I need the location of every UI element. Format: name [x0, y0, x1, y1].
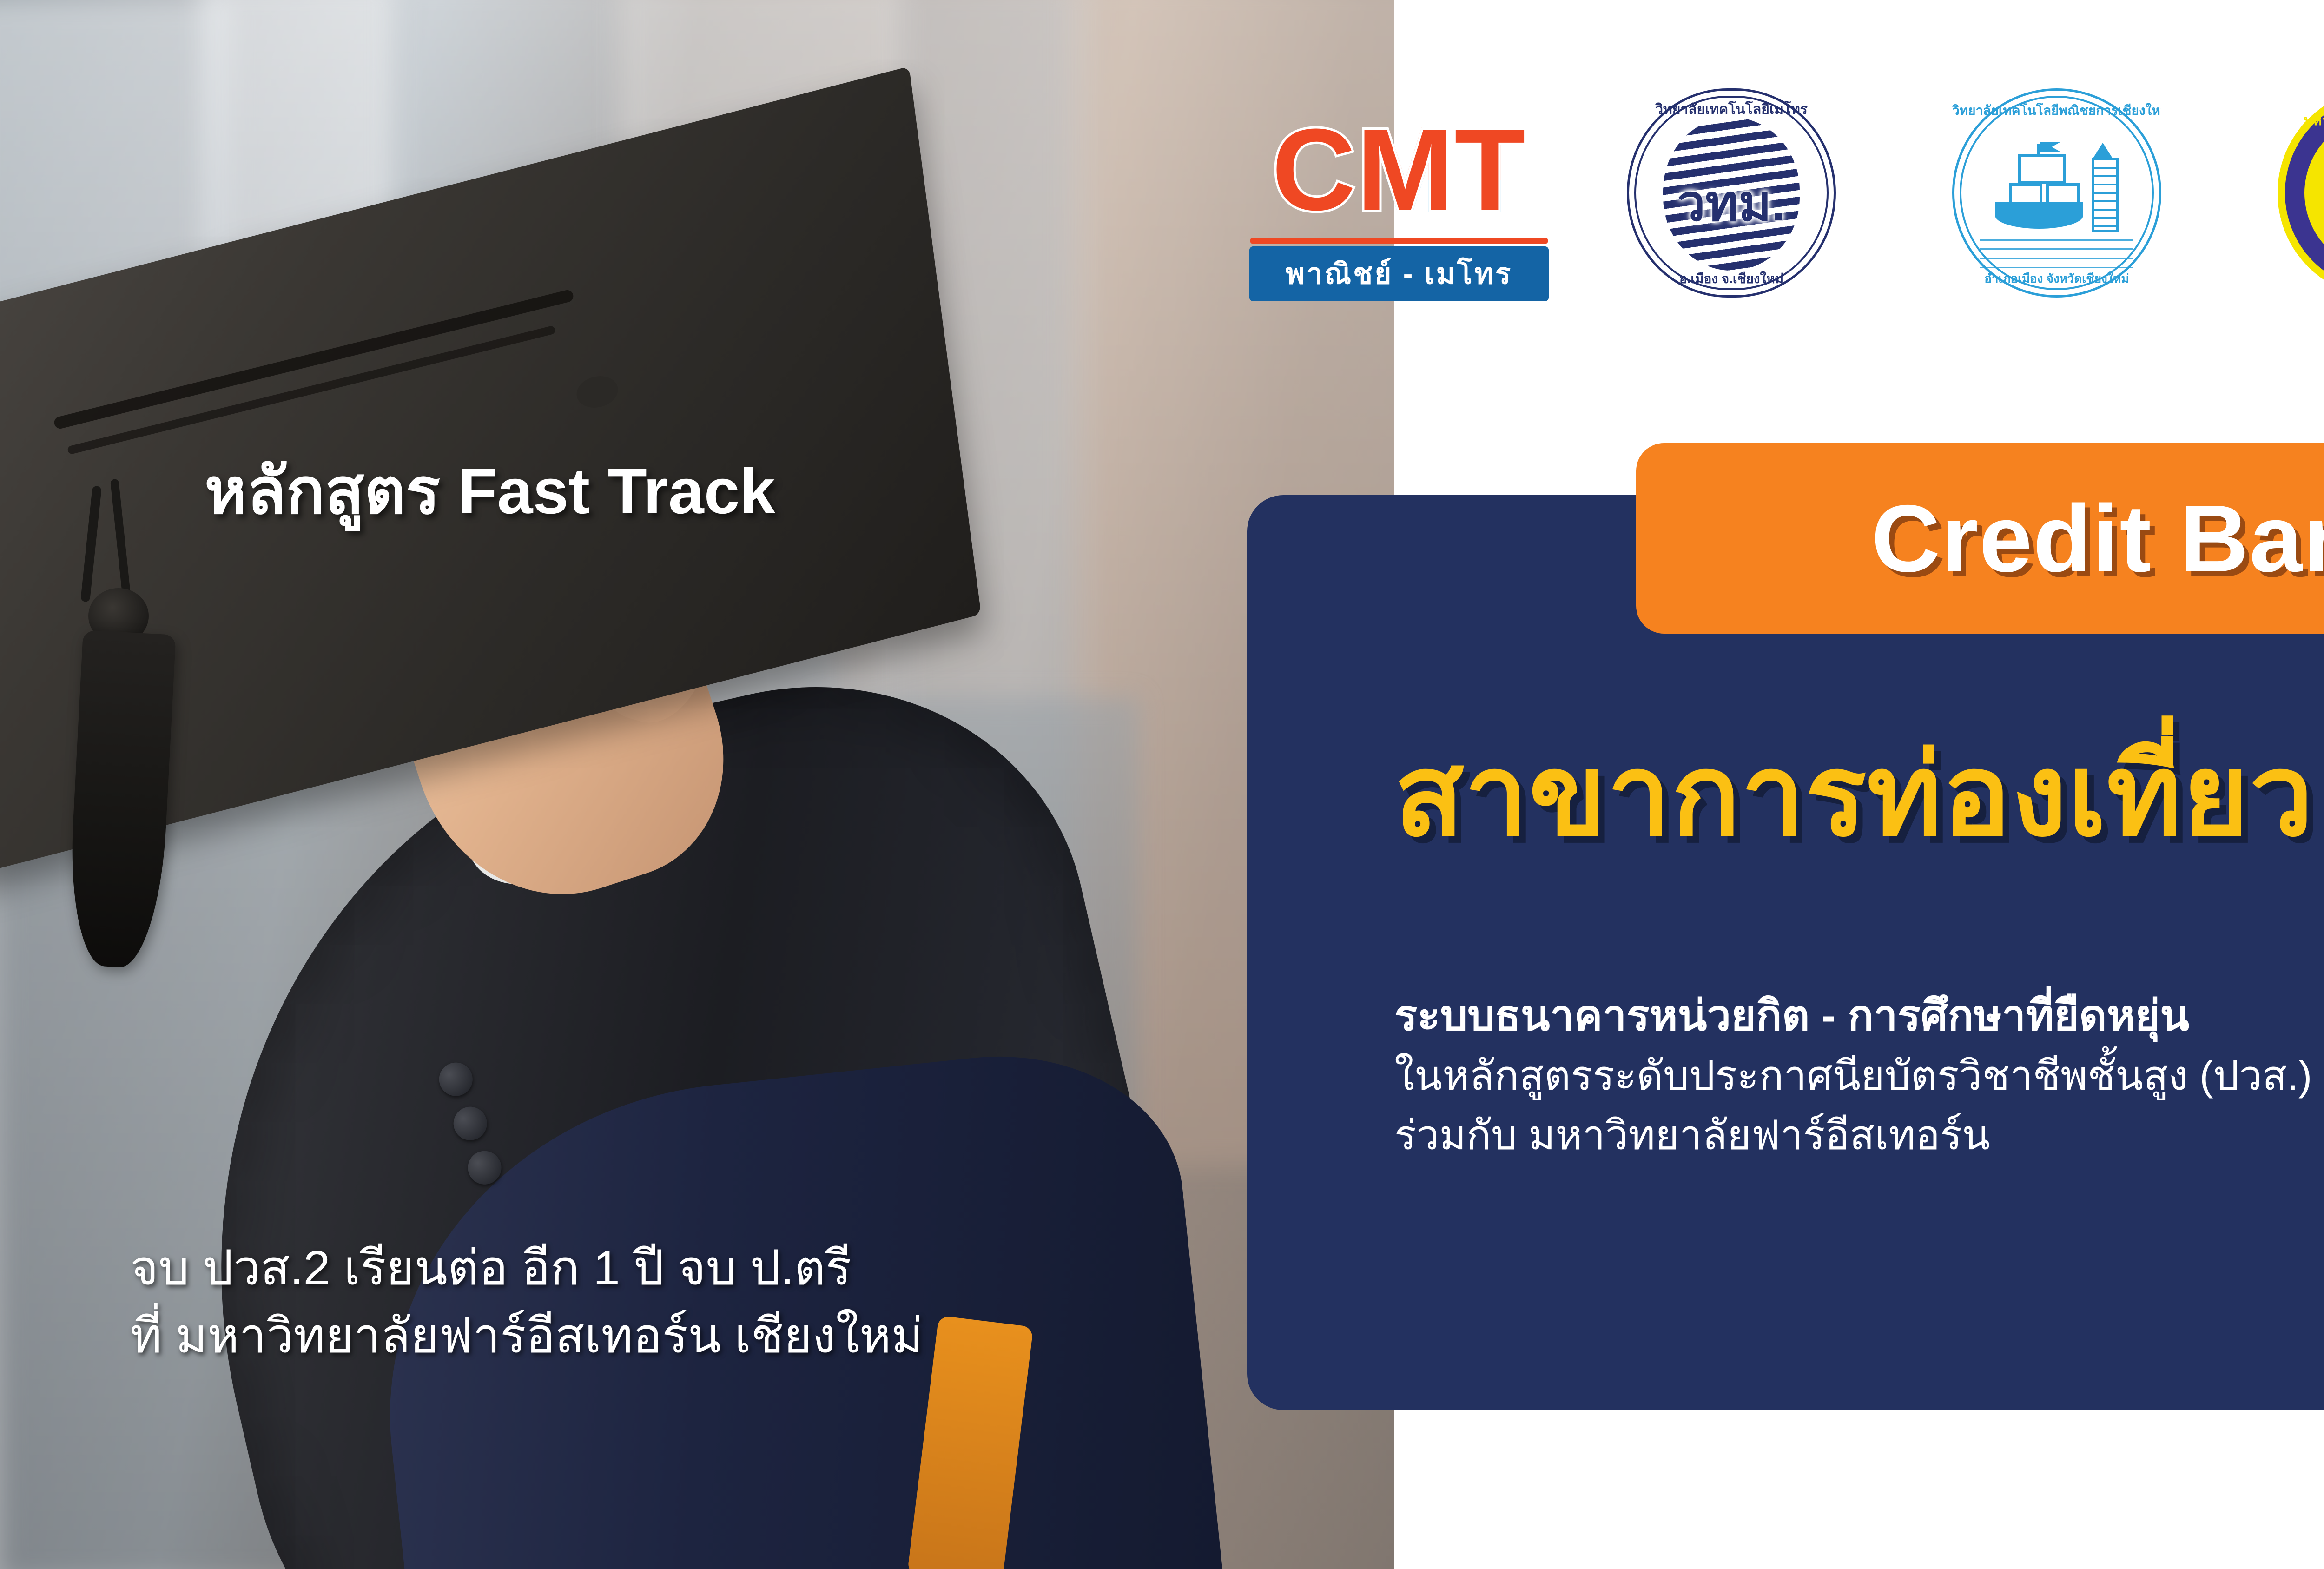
seal-ship-graphic: [1995, 144, 2083, 242]
seal-year: 2000: [2278, 267, 2324, 286]
photo-overlay-heading: หลักสูตร Fast Track: [205, 453, 775, 530]
cmt-letter-t: T: [1454, 105, 1526, 234]
seal-arc-bottom-text: อ.เมือง จ.เชียงใหม่: [1627, 269, 1836, 289]
photo-bottom-text: จบ ปวส.2 เรียนต่อ อีก 1 ปี จบ ป.ตรี ที่ …: [130, 1234, 923, 1370]
photo-bottom-line-2: ที่ มหาวิทยาลัยฟาร์อีสเทอร์น เชียงใหม่: [130, 1302, 923, 1370]
seal-arc-top-text: มหาวิทยาลัยฟาร์อีสเทอร์น: [2278, 110, 2324, 132]
cmt-letter-m: M: [1357, 105, 1454, 234]
cmt-logo-letters: CMT: [1236, 102, 1562, 237]
seal-arc-top-text: วิทยาลัยเทคโนโลยีเมโทร: [1627, 99, 1836, 120]
card-body-text: ระบบธนาคารหน่วยกิต - การศึกษาที่ยืดหยุ่น…: [1394, 986, 2324, 1165]
cmt-letter-c: C: [1272, 105, 1357, 234]
ship-sail: [2018, 154, 2066, 184]
vtm-seal-logo: วทม. วิทยาลัยเทคโนโลยีเมโทร อ.เมือง จ.เช…: [1627, 88, 1836, 298]
program-heading: สาขาการท่องเที่ยว: [1394, 730, 2314, 860]
card-body-line-1: ระบบธนาคารหน่วยกิต - การศึกษาที่ยืดหยุ่น: [1394, 986, 2324, 1046]
card-body-line-3: ร่วมกับ มหาวิทยาลัยฟาร์อีสเทอร์น: [1394, 1106, 2324, 1165]
card-body-line-2: ในหลักสูตรระดับประกาศนียบัตรวิชาชีพชั้นส…: [1394, 1046, 2324, 1106]
seal-arc-top-text: วิทยาลัยเทคโนโลยีพณิชยการเชียงใหม่: [1952, 100, 2161, 121]
commerce-seal-logo: วิทยาลัยเทคโนโลยีพณิชยการเชียงใหม่ อำเภอ…: [1952, 88, 2161, 298]
credit-bank-badge: Credit Bank: [1636, 443, 2324, 634]
ship-hull: [1995, 202, 2083, 229]
credit-bank-title: Credit Bank: [1871, 491, 2324, 586]
cmt-logo: CMT พาณิชย์ - เมโทร: [1236, 102, 1562, 302]
seal-monogram: วทม.: [1627, 163, 1836, 243]
feu-seal-logo: มหาวิทยาลัยฟาร์อีสเทอร์น ETHICS WISDOM W…: [2278, 88, 2324, 298]
ship-flag: [2040, 142, 2060, 152]
partner-logo-row: CMT พาณิชย์ - เมโทร วทม. วิทยาลัยเทคโนโล…: [1208, 88, 2324, 311]
seal-lighthouse-graphic: [2092, 158, 2119, 232]
seal-arc-bottom-text: อำเภอเมือง จังหวัดเชียงใหม่: [1952, 269, 2161, 288]
cmt-logo-rule: [1250, 238, 1548, 244]
banner-canvas: หลักสูตร Fast Track จบ ปวส.2 เรียนต่อ อี…: [0, 0, 2324, 1569]
photo-bottom-line-1: จบ ปวส.2 เรียนต่อ อีก 1 ปี จบ ป.ตรี: [130, 1234, 923, 1302]
graduation-photo: หลักสูตร Fast Track จบ ปวส.2 เรียนต่อ อี…: [0, 0, 1394, 1569]
cmt-logo-tagline: พาณิชย์ - เมโทร: [1286, 251, 1512, 297]
cmt-logo-tagline-bar: พาณิชย์ - เมโทร: [1249, 246, 1549, 301]
